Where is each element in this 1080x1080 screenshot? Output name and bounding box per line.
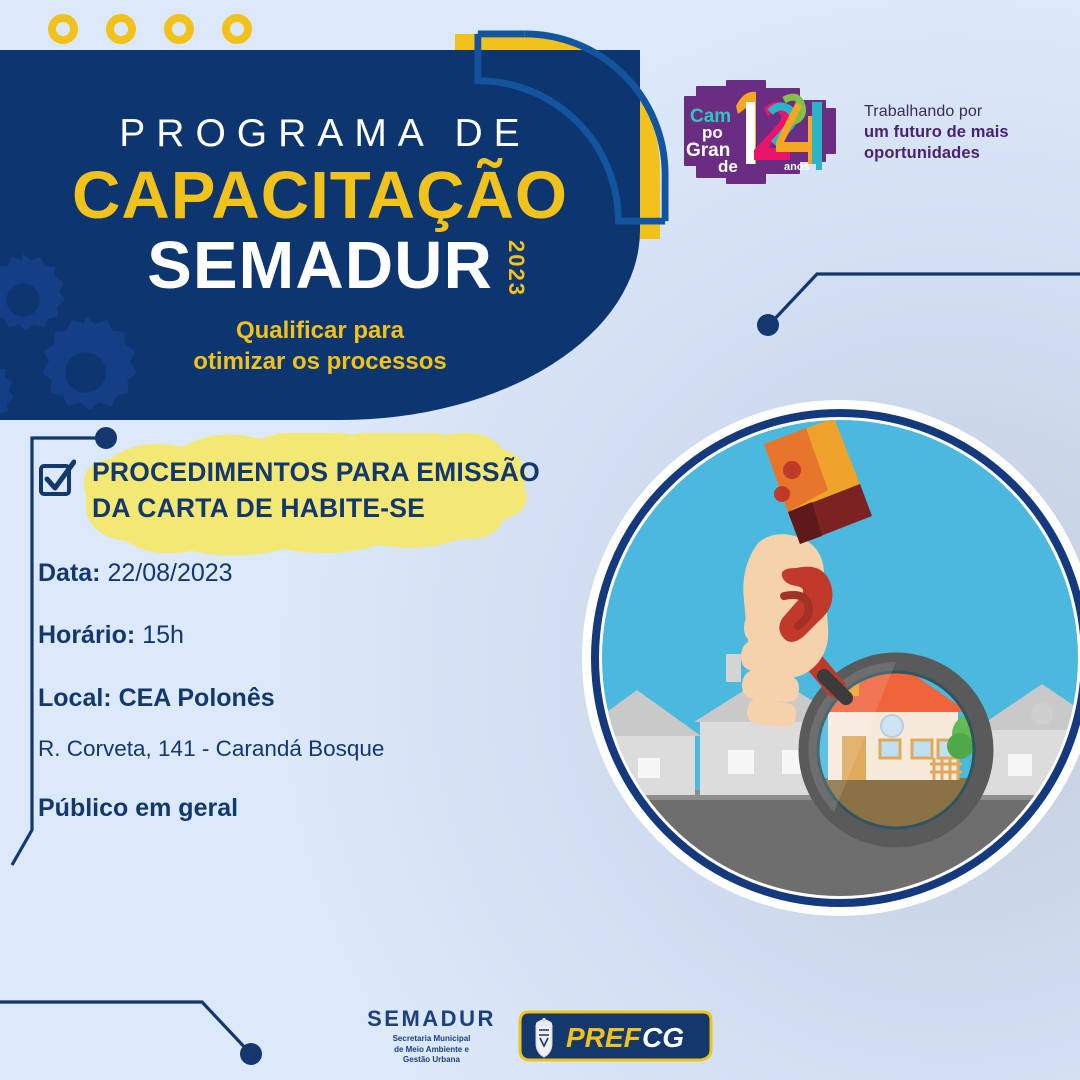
event-title: PROCEDIMENTOS PARA EMISSÃO DA CARTA DE H… <box>92 455 540 527</box>
top-decorative-rings <box>48 14 252 44</box>
time-label: Horário: <box>38 621 135 649</box>
ring-icon <box>48 14 78 44</box>
semadur-desc-line3: Gestão Urbana <box>403 1055 460 1064</box>
prefcg-cg-text: CG <box>642 1022 684 1053</box>
semadur-desc-line2: de Meio Ambiente e <box>394 1045 469 1054</box>
event-date-row: Data: 22/08/2023 <box>38 557 638 590</box>
venue-label: Local: <box>38 684 112 712</box>
event-info-block: PROCEDIMENTOS PARA EMISSÃO DA CARTA DE H… <box>38 455 638 823</box>
campo-grande-anniversary-logo: Cam po Gran de anos Trabalhando por um f… <box>680 78 1009 188</box>
svg-text:de: de <box>718 157 738 176</box>
year-label: 2023 <box>503 240 529 297</box>
cg-logo-mark: Cam po Gran de anos <box>680 78 848 188</box>
date-label: Data: <box>38 559 101 587</box>
event-title-row: PROCEDIMENTOS PARA EMISSÃO DA CARTA DE H… <box>38 455 638 527</box>
checkbox-checked-icon <box>38 459 76 497</box>
program-line: PROGRAMA DE <box>10 112 640 156</box>
semadur-desc-line1: Secretaria Municipal <box>393 1034 471 1043</box>
ring-icon <box>222 14 252 44</box>
right-connector-line <box>745 258 1080 348</box>
anniversary-tagline-line3: oportunidades <box>864 144 980 162</box>
event-time-row: Horário: 15h <box>38 619 638 652</box>
event-address: R. Corveta, 141 - Carandá Bosque <box>38 736 638 762</box>
program-tagline: Qualificar para otimizar os processos <box>0 315 640 377</box>
program-tagline-line1: Qualificar para <box>236 317 404 344</box>
time-value: 15h <box>142 621 184 649</box>
title-capacitacao: CAPACITAÇÃO <box>0 162 640 230</box>
event-illustration <box>560 378 1080 938</box>
program-tagline-line2: otimizar os processos <box>193 348 446 375</box>
svg-text:anos: anos <box>784 161 810 173</box>
anniversary-tagline-line2: um futuro de mais <box>864 123 1009 141</box>
prefeitura-campo-grande-logo: PREF CG <box>518 1010 713 1062</box>
semadur-logo-description: Secretaria Municipal de Meio Ambiente e … <box>367 1034 496 1066</box>
poster-headline: PROGRAMA DE CAPACITAÇÃO SEMADUR 2023 Qua… <box>0 112 640 377</box>
semadur-logo-name: SEMADUR <box>367 1006 496 1032</box>
semadur-logo: SEMADUR Secretaria Municipal de Meio Amb… <box>367 1006 496 1066</box>
ring-icon <box>164 14 194 44</box>
anniversary-tagline-line1: Trabalhando por <box>864 102 1009 122</box>
title-semadur-wrap: SEMADUR 2023 <box>147 232 493 300</box>
event-audience: Público em geral <box>38 794 638 823</box>
ring-icon <box>106 14 136 44</box>
event-venue-row: Local: CEA Polonês <box>38 682 638 715</box>
footer-logos: SEMADUR Secretaria Municipal de Meio Amb… <box>0 1006 1080 1066</box>
prefcg-pref-text: PREF <box>566 1022 642 1053</box>
event-title-line2: DA CARTA DE HABITE-SE <box>92 493 425 523</box>
anniversary-tagline: Trabalhando por um futuro de mais oportu… <box>864 102 1009 165</box>
event-title-line1: PROCEDIMENTOS PARA EMISSÃO <box>92 457 540 487</box>
date-value: 22/08/2023 <box>107 559 232 587</box>
poster-root: Cam po Gran de anos Trabalhando por um f… <box>0 0 1080 1080</box>
connector-dot-icon <box>757 314 779 336</box>
venue-value: CEA Polonês <box>119 684 275 712</box>
title-semadur: SEMADUR <box>147 228 493 303</box>
